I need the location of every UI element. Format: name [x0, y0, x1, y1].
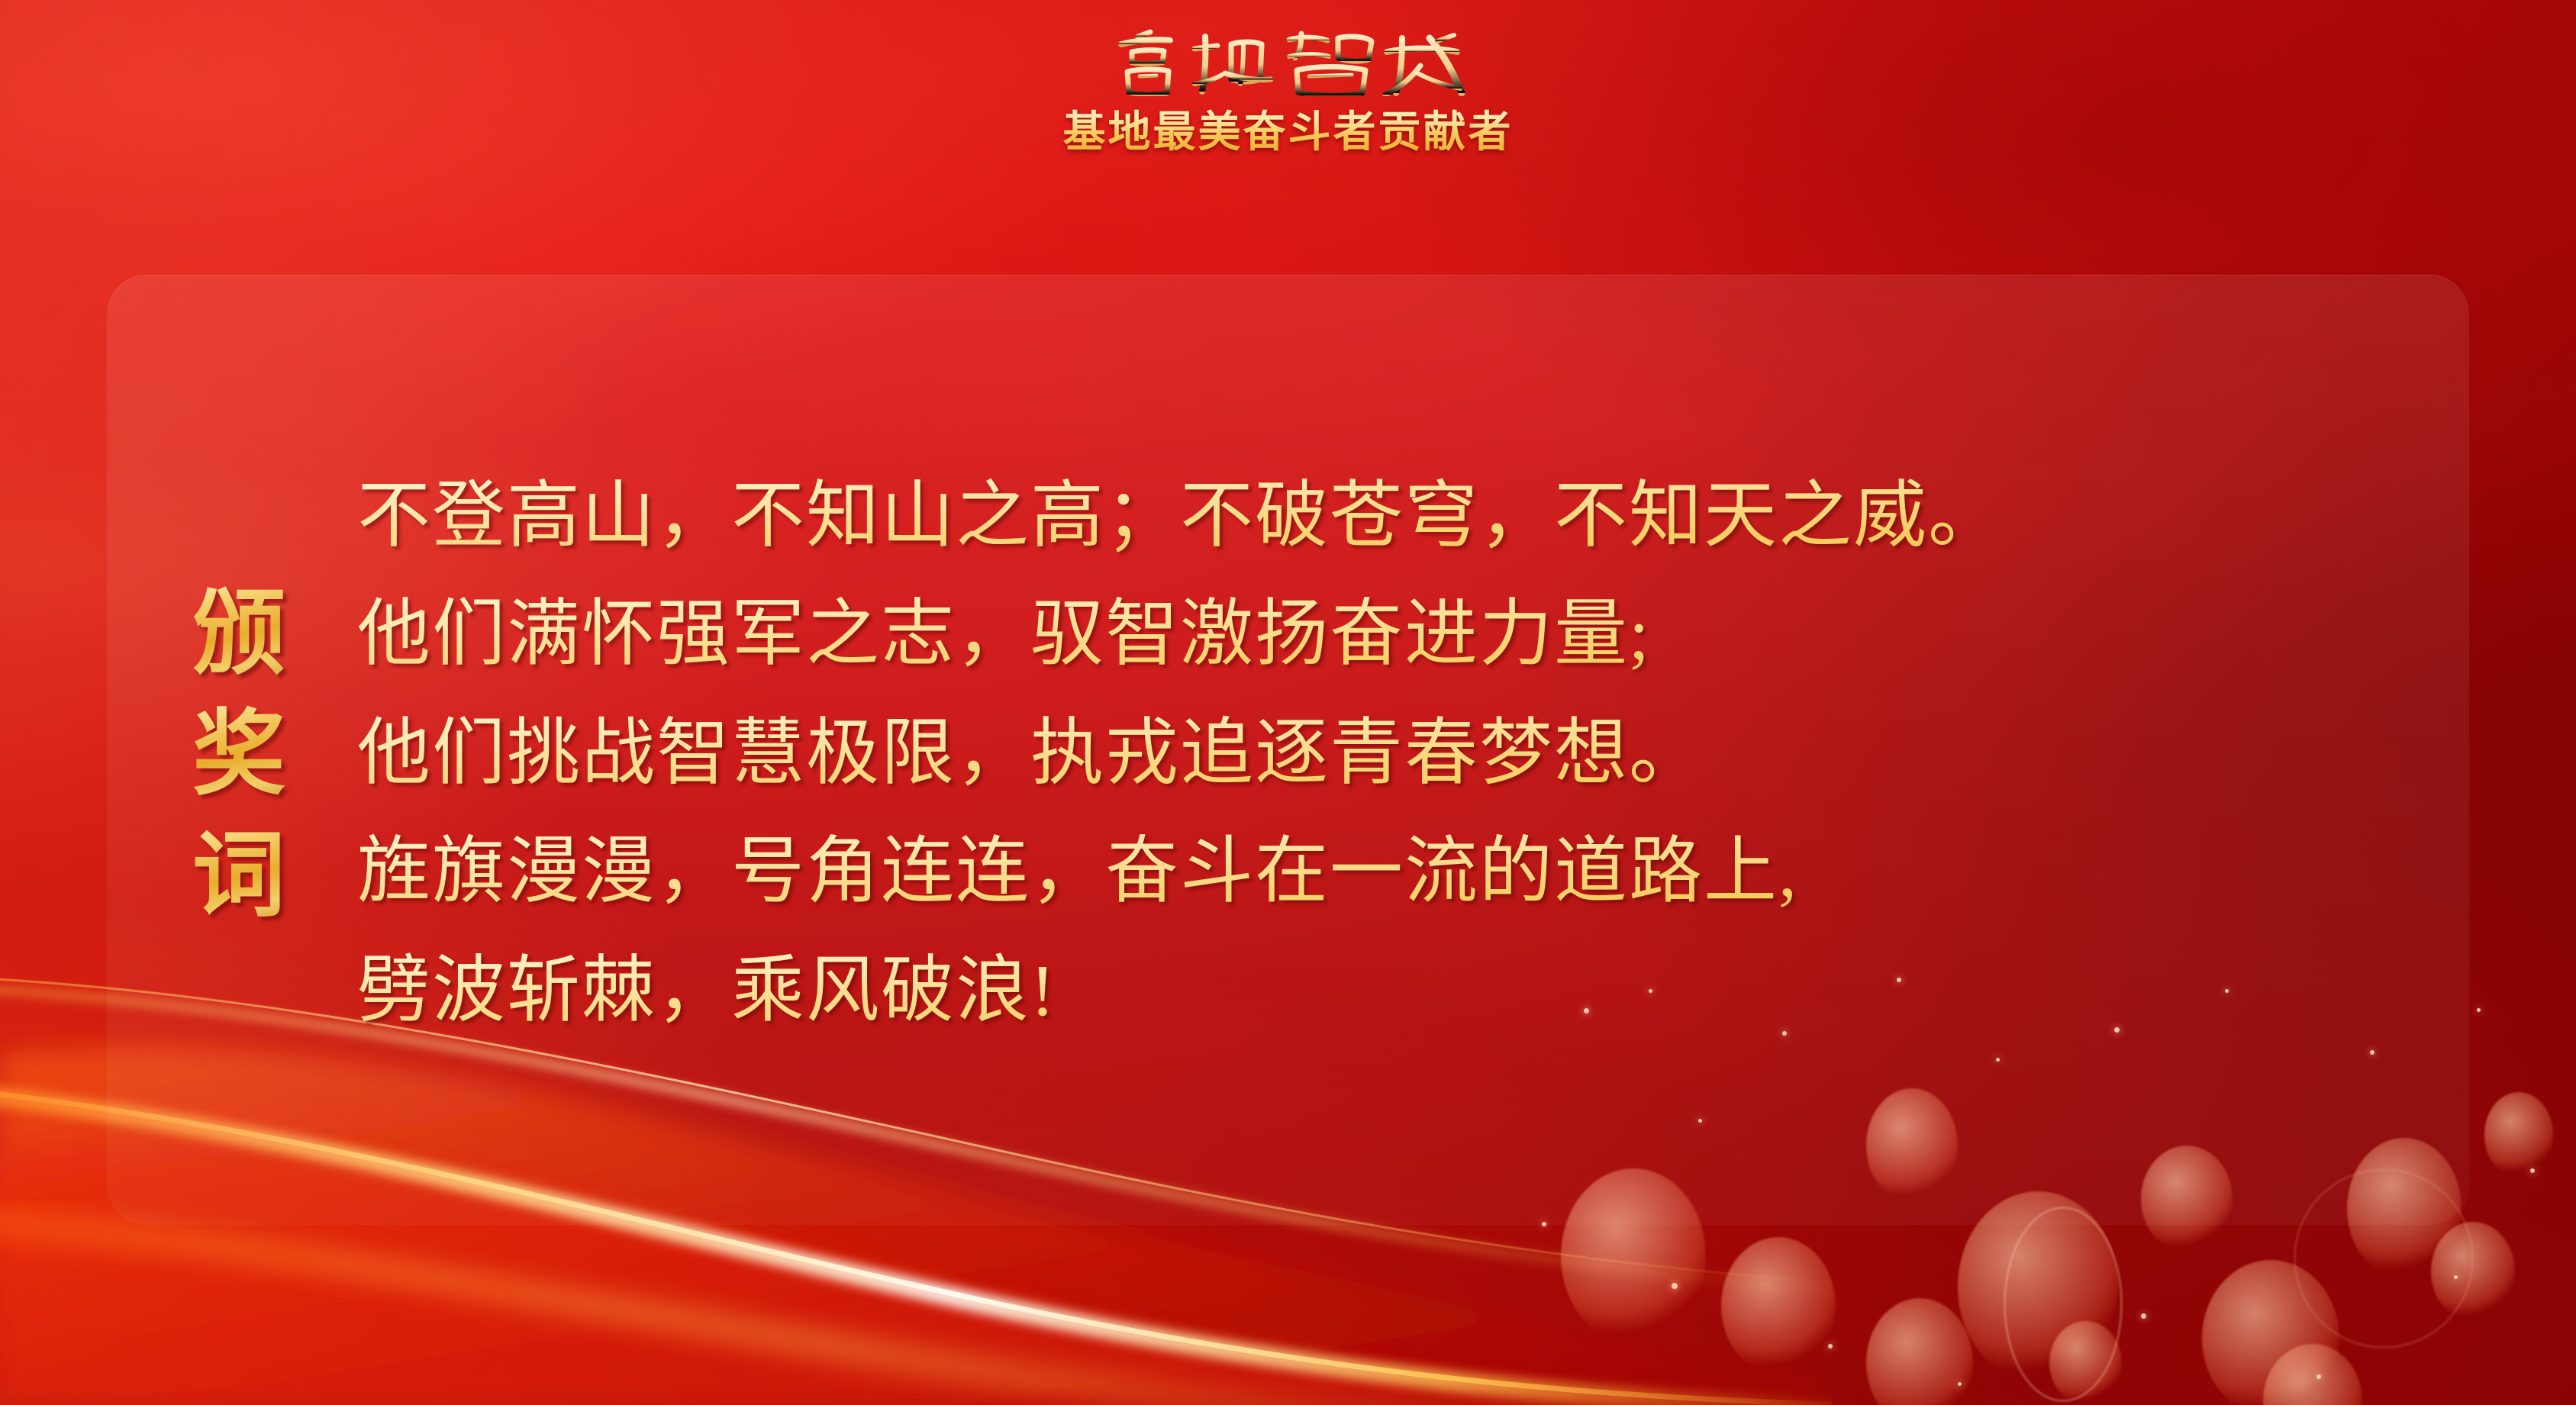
- vertical-label-char-1: 颁: [192, 575, 285, 696]
- vertical-label-char-2: 奖: [192, 695, 285, 817]
- citation-line: 旌旗漫漫，号角连连，奋斗在一流的道路上,: [357, 812, 2426, 931]
- citation-line: 不登高山，不知山之高；不破苍穹，不知天之威。: [357, 456, 2426, 575]
- vertical-label-award-citation: 颁 奖 词: [143, 575, 334, 938]
- citation-line: 他们挑战智慧极限，执戎追逐青春梦想。: [357, 694, 2426, 813]
- poster-subtitle: 基地最美奋斗者贡献者: [1063, 98, 1514, 160]
- poster-header: 基地最美奋斗者贡献者: [0, 0, 2576, 229]
- citation-line: 劈波斩棘，乘风破浪!: [357, 931, 2426, 1050]
- poster-stage: 基地最美奋斗者贡献者 颁 奖 词 不登高山，不知山之高；不破苍穹，不知天之威。 …: [0, 0, 2576, 1405]
- vertical-label-char-3: 词: [192, 817, 285, 938]
- award-citation-card: 颁 奖 词 不登高山，不知山之高；不破苍穹，不知天之威。 他们满怀强军之志，驭智…: [107, 275, 2469, 1225]
- award-citation-text: 不登高山，不知山之高；不破苍穹，不知天之威。 他们满怀强军之志，驭智激扬奋进力量…: [334, 456, 2469, 1050]
- citation-line: 他们满怀强军之志，驭智激扬奋进力量;: [357, 575, 2426, 694]
- brush-calligraphy-logo-icon: [1109, 26, 1468, 96]
